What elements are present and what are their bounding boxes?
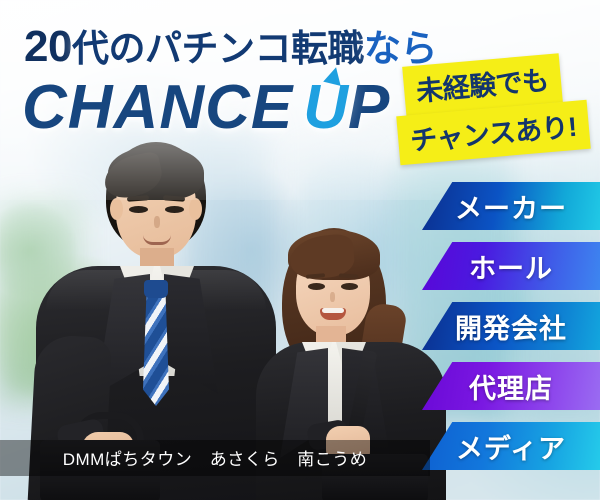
category-label: メーカー [455, 187, 567, 226]
category-bar-maker[interactable]: メーカー [422, 182, 600, 230]
category-bar-developer[interactable]: 開発会社 [422, 302, 600, 350]
category-label: ホール [469, 247, 553, 286]
caption-credits: DMMぱちタウン あさくら 南こうめ [0, 440, 430, 476]
category-label: 代理店 [469, 367, 553, 406]
category-bar-list: メーカー ホール 開発会社 代理店 メディア [0, 0, 600, 500]
category-label: メディア [456, 427, 566, 466]
category-label: 開発会社 [455, 307, 567, 346]
recruitment-banner[interactable]: 20代のパチンコ転職なら CHANCEUP 未経験でも チャンスあり! メーカー… [0, 0, 600, 500]
category-bar-hall[interactable]: ホール [422, 242, 600, 290]
category-bar-media[interactable]: メディア [422, 422, 600, 470]
category-bar-agency[interactable]: 代理店 [422, 362, 600, 410]
